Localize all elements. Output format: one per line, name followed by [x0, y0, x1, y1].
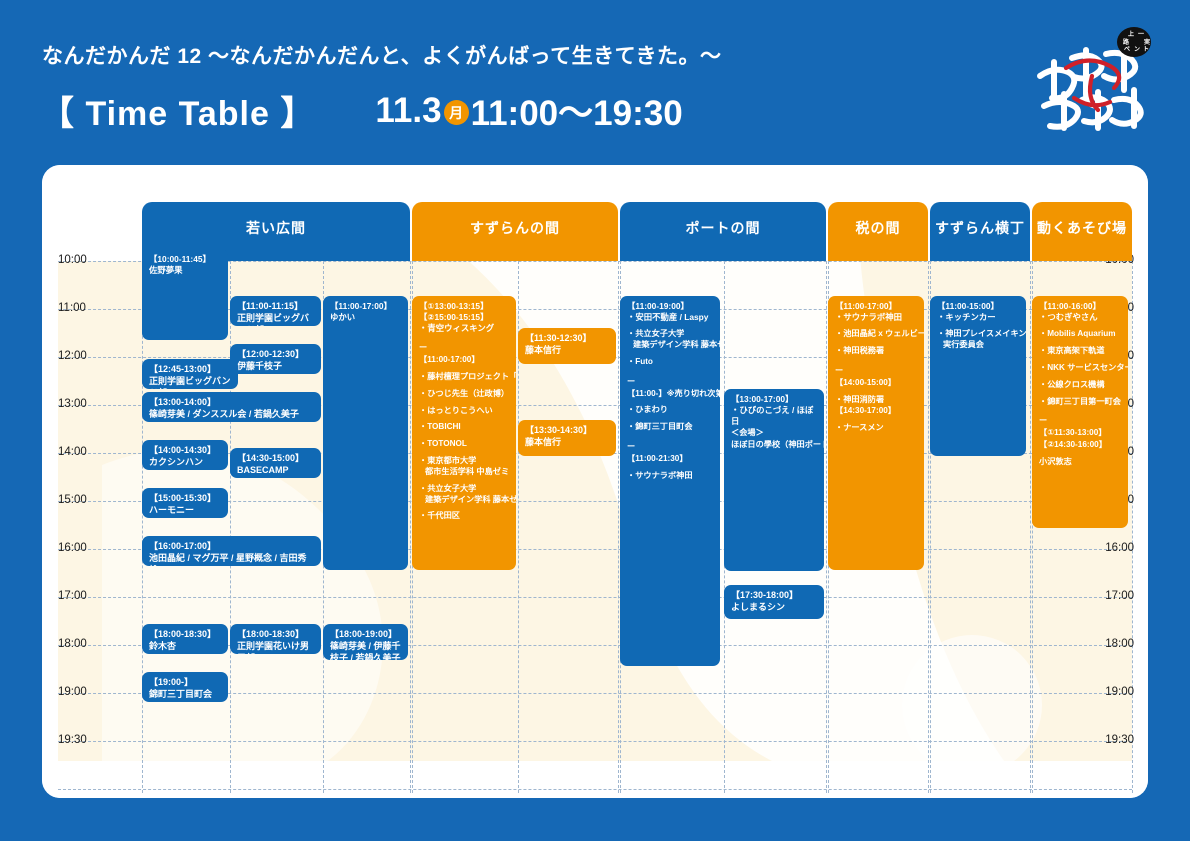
event-time: 【13:00-14:00】	[149, 397, 315, 409]
event-block-21[interactable]: 【11:00-15:00】・キッチンカー・神田プレイスメイキング実行委員会	[930, 296, 1026, 456]
event-block-5[interactable]: 【13:00-14:00】篠崎芽美 / ダンススル会 / 若鍋久美子	[142, 392, 321, 422]
date-number: 11.3	[375, 91, 441, 131]
event-item: 小沢敦志	[1039, 457, 1122, 468]
event-hours: 11:00〜19:30	[471, 85, 683, 136]
event-name: BASECAMP	[237, 465, 315, 477]
svg-text:ト: ト	[1143, 46, 1149, 53]
event-time: 【①13:00-13:15】	[419, 301, 510, 312]
event-item: 【②14:30-16:00】	[1039, 440, 1122, 451]
event-block-10[interactable]: 【18:00-18:30】鈴木杏	[142, 624, 228, 654]
event-item-list: ＜会場＞ほぼ日の學校（神田ポートビル2F）	[731, 428, 818, 451]
event-name: ・キッチンカー	[937, 312, 1020, 323]
column-strip-2	[620, 254, 826, 261]
event-name: ハーモニー	[149, 505, 222, 517]
event-item: 【14:30-17:00】	[835, 406, 918, 417]
column-header-label: 動くあそび場	[1037, 218, 1127, 238]
grid-row-line	[58, 789, 1132, 790]
event-time: 【13:30-14:30】	[525, 425, 610, 437]
event-block-16[interactable]: 【13:30-14:30】藤本信行	[518, 420, 616, 456]
event-name: 鈴木杏	[149, 641, 222, 653]
event-item: 【①11:30-13:00】	[1039, 428, 1122, 439]
event-time: 【16:00-17:00】	[149, 541, 315, 553]
time-label-left-1600: 16:00	[58, 542, 87, 554]
event-item-list: ・共立女子大学建築デザイン学科 藤本ゼミ・Futoー【11:00-】※売り切れ次…	[627, 329, 714, 481]
event-item: ・錦町三丁目町会	[627, 422, 714, 433]
event-item-sub: 実行委員会	[937, 340, 1020, 351]
event-time: 【11:00-11:15】	[237, 301, 315, 313]
event-subtitle: なんだかんだ 12 〜なんだかんだんと、よくがんばって生きてきた。〜	[42, 40, 722, 70]
event-block-15[interactable]: 【11:30-12:30】藤本信行	[518, 328, 616, 364]
event-block-3[interactable]: 【12:00-12:30】伊藤千枝子	[230, 344, 321, 374]
time-label-left-1200: 12:00	[58, 350, 87, 362]
event-item: ・共立女子大学建築デザイン学科 藤本ゼミ	[627, 329, 714, 351]
event-name: ・ひびのこづえ / ほぼ日	[731, 405, 818, 427]
event-time: 【15:00-15:30】	[149, 493, 222, 505]
event-name: ゆかい	[330, 312, 402, 323]
event-block-1[interactable]: 【11:00-11:15】正則学園ビッグバンド部	[230, 296, 321, 326]
event-item-list: ー【11:00-17:00】・藤村檀理プロジェクト「通り堂」・ひつじ先生（辻政博…	[419, 343, 510, 522]
event-item: ・公線クロス機構	[1039, 380, 1122, 391]
event-item-list: ・神田プレイスメイキング実行委員会	[937, 329, 1020, 351]
column-header-label: すずらん横丁	[935, 218, 1025, 238]
time-label-left-1100: 11:00	[58, 302, 86, 314]
event-item: ー	[419, 343, 510, 354]
event-item: ・神田税務署	[835, 346, 918, 357]
event-name: ・つむぎやさん	[1039, 312, 1122, 323]
event-block-19[interactable]: 【17:30-18:00】よしまるシン	[724, 585, 824, 619]
timetable-card: 若い広間すずらんの間ポートの間税の間すずらん横丁動くあそび場10:0010:00…	[42, 165, 1148, 798]
event-time: 【12:00-12:30】	[237, 349, 315, 361]
svg-text:一: 一	[1138, 32, 1144, 38]
svg-text:実: 実	[1144, 38, 1150, 46]
title-row: 【 Time Table 】 11.3 月 11:00〜19:30	[40, 85, 683, 136]
event-name: ・安田不動産 / Laspy	[627, 312, 714, 323]
grid-column-line	[1132, 261, 1133, 793]
page-header: なんだかんだ 12 〜なんだかんだんと、よくがんばって生きてきた。〜 【 Tim…	[0, 0, 1190, 160]
event-item: ・東京都市大学都市生活学科 中島ゼミ	[419, 456, 510, 478]
grid-column-subline	[230, 261, 231, 793]
event-item: ・東京高架下軌道	[1039, 346, 1122, 357]
event-block-4[interactable]: 【12:45-13:00】正則学園ビッグバンド部	[142, 359, 238, 389]
event-time: 【17:30-18:00】	[731, 590, 818, 602]
column-header-label: 若い広間	[246, 218, 306, 238]
event-item: ・錦町三丁目第一町会	[1039, 397, 1122, 408]
event-item: 【11:00-】※売り切れ次第終了	[627, 389, 714, 400]
time-label-right-1600: 16:00	[1105, 542, 1134, 554]
event-item: 【14:00-15:00】	[835, 378, 918, 389]
event-block-6[interactable]: 【14:00-14:30】カクシンハン	[142, 440, 228, 470]
event-block-13[interactable]: 【19:00-】錦町三丁目町会	[142, 672, 228, 702]
event-item-list: ・池田晶紀 x ウェルビー・神田税務署ー【14:00-15:00】・神田消防署【…	[835, 329, 918, 434]
event-item: 【11:00-21:30】	[627, 454, 714, 465]
time-label-right-1700: 17:00	[1105, 590, 1134, 602]
grid-column-line	[142, 261, 143, 793]
timetable-grid: 若い広間すずらんの間ポートの間税の間すずらん横丁動くあそび場10:0010:00…	[42, 165, 1148, 798]
weekday-badge: 月	[444, 100, 469, 125]
event-item: ・NKK サービスセンター	[1039, 363, 1122, 374]
event-item: ー	[835, 366, 918, 377]
column-header-5: 動くあそび場	[1032, 202, 1132, 254]
event-item: ・Futo	[627, 357, 714, 368]
event-time: 【18:00-19:00】	[330, 629, 402, 641]
event-item: ・共立女子大学建築デザイン学科 藤本ゼミ	[419, 484, 510, 506]
event-name: 篠崎芽美 / 伊藤千枝子 / 若鍋久美子	[330, 641, 402, 660]
column-header-label: すずらんの間	[470, 218, 560, 238]
time-label-left-1930: 19:30	[58, 734, 87, 746]
event-name: 正則学園花いけ男子部	[237, 641, 315, 654]
column-strip-5	[1032, 254, 1132, 261]
event-item: ・ナースメン	[835, 423, 918, 434]
event-item: ・TOTONOL	[419, 439, 510, 450]
event-time: 【19:00-】	[149, 677, 222, 689]
event-item: ・神田プレイスメイキング実行委員会	[937, 329, 1020, 351]
grid-column-line	[826, 261, 827, 793]
event-name: ・サウナラボ神田	[835, 312, 918, 323]
event-time-secondary: 【②15:00-15:15】	[419, 312, 510, 323]
event-time: 【12:45-13:00】	[149, 364, 232, 376]
event-time: 【11:00-19:00】	[627, 301, 714, 312]
time-label-left-1700: 17:00	[58, 590, 87, 602]
event-item: ー	[627, 442, 714, 453]
column-header-label: ポートの間	[686, 218, 761, 238]
event-time: 【11:00-16:00】	[1039, 301, 1122, 312]
event-block-0[interactable]: 【10:00-11:45】佐野夢果	[142, 249, 228, 340]
column-header-label: 税の間	[856, 218, 901, 238]
event-time: 【11:30-12:30】	[525, 333, 610, 345]
event-name: 藤本信行	[525, 345, 610, 357]
time-label-left-1500: 15:00	[58, 494, 87, 506]
event-item: ほぼ日の學校（神田ポートビル2F）	[731, 440, 818, 451]
event-item: ー	[1039, 416, 1122, 427]
event-item: ・池田晶紀 x ウェルビー	[835, 329, 918, 340]
column-header-0: 若い広間	[142, 202, 410, 254]
grid-row-line	[58, 597, 1132, 598]
event-time: 【14:30-15:00】	[237, 453, 315, 465]
event-name: カクシンハン	[149, 457, 222, 469]
event-item: ・ひまわり	[627, 405, 714, 416]
event-item: ＜会場＞	[731, 428, 818, 439]
event-name: よしまるシン	[731, 602, 818, 614]
event-item: 【11:00-17:00】	[419, 355, 510, 366]
event-block-11[interactable]: 【18:00-18:30】正則学園花いけ男子部	[230, 624, 321, 654]
event-time: 【18:00-18:30】	[237, 629, 315, 641]
event-item: ・はっとりこうへい	[419, 406, 510, 417]
column-strip-3	[828, 254, 928, 261]
event-item-sub: 建築デザイン学科 藤本ゼミ	[419, 495, 510, 506]
svg-text:ン: ン	[1134, 46, 1140, 53]
event-item-sub: 都市生活学科 中島ゼミ	[419, 467, 510, 478]
event-name: 池田晶紀 / マグ万平 / 星野概念 / 吉田秀雄	[149, 553, 315, 566]
event-name: 藤本信行	[525, 437, 610, 449]
svg-text:路: 路	[1123, 38, 1130, 46]
svg-text:ベ: ベ	[1124, 46, 1130, 53]
event-block-18[interactable]: 【13:00-17:00】・ひびのこづえ / ほぼ日＜会場＞ほぼ日の學校（神田ポ…	[724, 389, 824, 571]
event-time: 【18:00-18:30】	[149, 629, 222, 641]
time-label-left-1800: 18:00	[58, 638, 87, 650]
grid-column-line	[618, 261, 619, 793]
event-item: ・千代田区	[419, 511, 510, 522]
event-block-22[interactable]: 【11:00-16:00】・つむぎやさん・Mobilis Aquarium・東京…	[1032, 296, 1128, 528]
time-label-left-1300: 13:00	[58, 398, 87, 410]
column-header-4: すずらん横丁	[930, 202, 1030, 254]
time-label-left-1400: 14:00	[58, 446, 87, 458]
event-time: 【10:00-11:45】	[149, 254, 222, 265]
event-name: 伊藤千枝子	[237, 361, 315, 373]
event-name: 正則学園ビッグバンド部	[237, 313, 315, 326]
time-label-right-1900: 19:00	[1105, 686, 1134, 698]
time-label-right-1930: 19:30	[1105, 734, 1134, 746]
event-item: ・サウナラボ神田	[627, 471, 714, 482]
event-block-9[interactable]: 【16:00-17:00】池田晶紀 / マグ万平 / 星野概念 / 吉田秀雄	[142, 536, 321, 566]
event-block-17[interactable]: 【11:00-19:00】・安田不動産 / Laspy・共立女子大学建築デザイン…	[620, 296, 720, 666]
event-item-sub: 建築デザイン学科 藤本ゼミ	[627, 340, 714, 351]
time-label-right-1800: 18:00	[1105, 638, 1134, 650]
event-item: ・藤村檀理プロジェクト「通り堂」	[419, 372, 510, 383]
event-item: ・神田消防署	[835, 395, 918, 406]
svg-text:上: 上	[1128, 30, 1134, 38]
event-name: 錦町三丁目町会	[149, 689, 222, 701]
event-date: 11.3 月 11:00〜19:30	[375, 85, 682, 136]
event-item-list: ・Mobilis Aquarium・東京高架下軌道・NKK サービスセンター・公…	[1039, 329, 1122, 467]
event-time: 【11:00-17:00】	[835, 301, 918, 312]
event-name: 篠崎芽美 / ダンススル会 / 若鍋久美子	[149, 409, 315, 421]
column-header-3: 税の間	[828, 202, 928, 254]
event-time: 【13:00-17:00】	[731, 394, 818, 405]
event-item: ・TOBICHI	[419, 422, 510, 433]
nandakanda-logo: 上一 路実 ベント	[1030, 24, 1160, 144]
event-name: ・青空ウィスキング	[419, 323, 510, 334]
event-item: ー	[627, 377, 714, 388]
event-block-14[interactable]: 【①13:00-13:15】【②15:00-15:15】・青空ウィスキングー【1…	[412, 296, 516, 570]
grid-column-line	[410, 261, 411, 793]
column-header-2: ポートの間	[620, 202, 826, 254]
event-time: 【11:00-17:00】	[330, 301, 402, 312]
event-block-7[interactable]: 【14:30-15:00】BASECAMP	[230, 448, 321, 478]
time-label-left-1900: 19:00	[58, 686, 87, 698]
event-name: 佐野夢果	[149, 265, 222, 276]
grid-row-line	[58, 741, 1132, 742]
event-block-2[interactable]: 【11:00-17:00】ゆかい	[323, 296, 408, 570]
event-time: 【11:00-15:00】	[937, 301, 1020, 312]
event-block-20[interactable]: 【11:00-17:00】・サウナラボ神田・池田晶紀 x ウェルビー・神田税務署…	[828, 296, 924, 570]
column-header-1: すずらんの間	[412, 202, 618, 254]
page-title: 【 Time Table 】	[40, 86, 315, 135]
grid-column-line	[928, 261, 929, 793]
event-item: ・Mobilis Aquarium	[1039, 329, 1122, 340]
column-strip-4	[930, 254, 1030, 261]
event-name: 正則学園ビッグバンド部	[149, 376, 232, 389]
column-strip-1	[412, 254, 618, 261]
grid-column-line	[1030, 261, 1031, 793]
event-block-8[interactable]: 【15:00-15:30】ハーモニー	[142, 488, 228, 518]
event-block-12[interactable]: 【18:00-19:00】篠崎芽美 / 伊藤千枝子 / 若鍋久美子	[323, 624, 408, 660]
event-time: 【14:00-14:30】	[149, 445, 222, 457]
time-label-left-1000: 10:00	[58, 254, 87, 266]
event-item: ・ひつじ先生（辻政博）	[419, 389, 510, 400]
